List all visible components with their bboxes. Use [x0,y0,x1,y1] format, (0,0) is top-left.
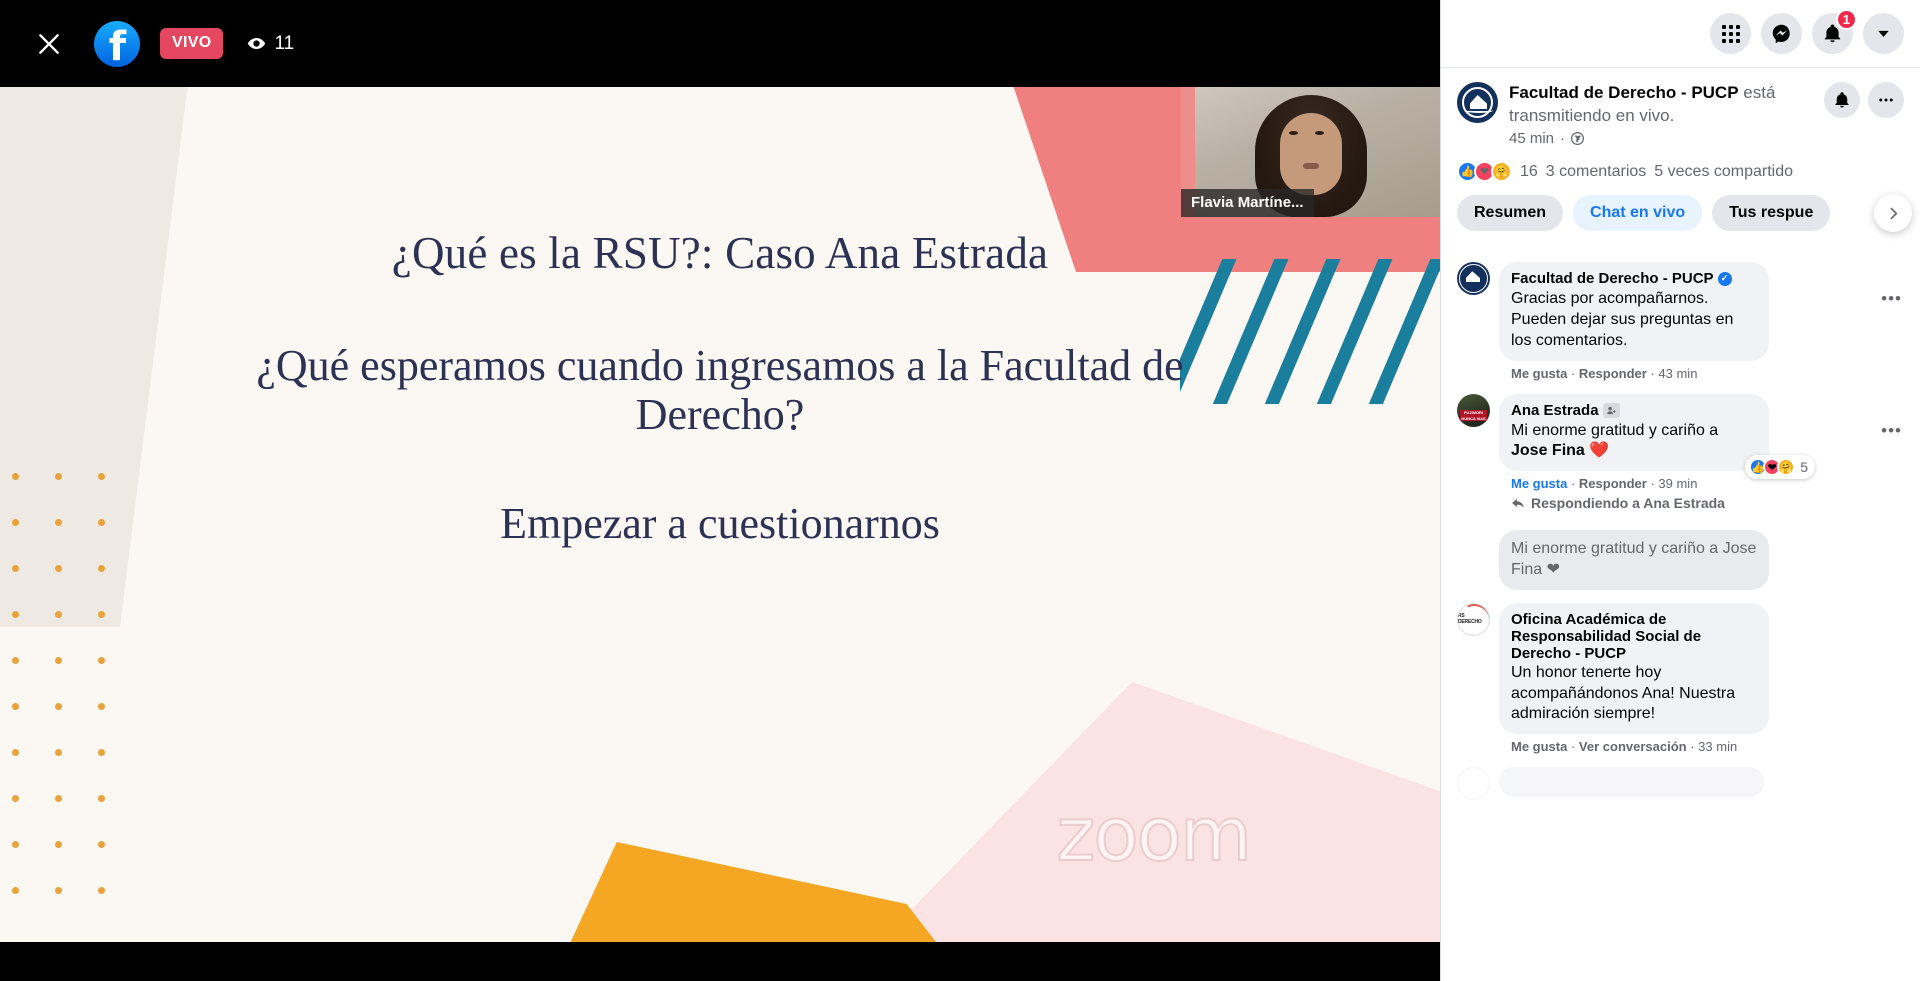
follow-bell-button[interactable] [1824,82,1860,118]
comment-reaction-pill[interactable]: 👍 ❤ 🤗 5 [1745,455,1815,479]
replying-to-label: Respondiendo a Ana Estrada [1511,495,1904,511]
globe-icon [1571,132,1584,145]
pip-mouth [1303,163,1319,169]
replying-to-text: Respondiendo a Ana Estrada [1531,495,1725,511]
account-menu-icon[interactable] [1863,13,1904,54]
action-separator: · [1571,739,1579,754]
avatar[interactable] [1457,262,1490,295]
comment-body: Oficina Académica de Responsabilidad Soc… [1499,603,1904,754]
comment-body: Mi enorme gratitud y cariño a Jose Fina … [1499,530,1904,590]
reply-action[interactable]: Responder [1579,366,1647,381]
action-separator: · [1571,476,1579,491]
comment-bubble: Oficina Académica de Responsabilidad Soc… [1499,603,1769,734]
comment-text-mention[interactable]: Jose Fina [1511,442,1585,459]
live-badge[interactable]: VIVO [160,28,223,59]
post-more-options-button[interactable] [1868,82,1904,118]
ellipsis-icon [1877,91,1895,109]
close-icon[interactable] [26,21,72,67]
comment-author[interactable]: Oficina Académica de Responsabilidad Soc… [1511,611,1757,662]
comment-bubble: Facultad de Derecho - PUCP ✓ Gracias por… [1499,262,1769,360]
post-header-actions [1824,82,1904,147]
reply-action[interactable]: Responder [1579,476,1647,491]
video-top-bar: f VIVO 11 [0,0,1440,87]
action-separator: · [1571,366,1579,381]
avatar-overlay-text: FUJIMORINUNCA MAS [1460,410,1487,421]
comment-more-options[interactable]: ••• [1881,422,1902,439]
comment-author-name: Facultad de Derecho - PUCP [1511,270,1714,287]
avatar-ring [1457,603,1490,636]
tabs-next-button[interactable] [1874,194,1912,232]
avatar-placeholder [1457,767,1490,800]
action-separator: · [1690,739,1698,754]
slide-question: ¿Qué esperamos cuando ingresamos a la Fa… [220,341,1220,440]
facebook-live-page: f VIVO 11 zoom ¿Qué es la RSU?: Caso Ana… [0,0,1920,981]
comment-bubble: Ana Estrada Mi enorme gratitud y cariño … [1499,394,1769,472]
page-avatar[interactable] [1457,82,1498,123]
like-action[interactable]: Me gusta [1511,739,1567,754]
comment-time: 39 min [1658,476,1697,491]
care-reaction-icon: 🤗 [1491,161,1512,182]
comment-text: Mi enorme gratitud y cariño a Jose Fina … [1511,539,1757,581]
like-action[interactable]: Me gusta [1511,476,1567,491]
post-time[interactable]: 45 min [1509,130,1554,147]
comment-time: 43 min [1658,366,1697,381]
comments-fade-overlay [1441,901,1920,981]
messenger-icon[interactable] [1761,13,1802,54]
bell-icon [1833,91,1851,109]
comment-bubble-placeholder [1499,767,1764,797]
sidebar-top-bar: 1 [1441,0,1920,68]
comment-reaction-count: 5 [1800,459,1808,475]
notification-badge: 1 [1836,9,1857,30]
facebook-logo-icon[interactable]: f [94,21,140,67]
post-header-text: Facultad de Derecho - PUCP está transmit… [1509,82,1813,147]
like-action[interactable]: Me gusta [1511,366,1567,381]
comment-count[interactable]: 3 comentarios [1546,163,1647,181]
reaction-icons[interactable]: 👍 ❤ 🤗 [1457,161,1512,182]
verified-badge-icon: ✓ [1718,272,1732,286]
viewer-count: 11 [247,33,294,55]
viewer-count-value: 11 [274,33,294,55]
tab-tus-respuestas[interactable]: Tus respue [1712,195,1830,231]
comment-body: Ana Estrada Mi enorme gratitud y cariño … [1499,394,1904,518]
notifications-icon[interactable]: 1 [1812,13,1853,54]
comment-time: 33 min [1698,739,1737,754]
comments-list[interactable]: Facultad de Derecho - PUCP ✓ Gracias por… [1441,244,1920,981]
presenter-name-label: Flavia Martíne... [1181,189,1314,217]
presenter-webcam-thumbnail[interactable]: Flavia Martíne... [1181,87,1440,217]
comment-actions: Me gusta · Responder · 39 min [1511,476,1904,491]
tabs-row: Resumen Chat en vivo Tus respue [1441,182,1920,244]
slide-title: ¿Qué es la RSU?: Caso Ana Estrada [392,227,1048,279]
tab-chat-en-vivo[interactable]: Chat en vivo [1573,195,1702,231]
comment-author-name: Oficina Académica de Responsabilidad Soc… [1511,611,1757,662]
pip-eye-right [1315,131,1324,135]
grid-menu-glyph [1722,25,1740,43]
comment-item: FUJIMORINUNCA MAS Ana Estrada Mi eno [1457,394,1904,518]
comment-actions: Me gusta · Responder · 43 min [1511,366,1904,381]
grid-menu-icon[interactable] [1710,13,1751,54]
comment-item: RS DERECHO Oficina Académica de Responsa… [1457,603,1904,754]
page-name[interactable]: Facultad de Derecho - PUCP [1509,83,1739,102]
comment-more-options[interactable]: ••• [1881,290,1902,307]
share-count[interactable]: 5 veces compartido [1654,163,1793,181]
comment-author-name: Ana Estrada [1511,402,1599,419]
pip-face [1280,113,1342,195]
reaction-count[interactable]: 16 [1520,163,1538,181]
comment-item-partial [1457,767,1904,800]
comment-author[interactable]: Facultad de Derecho - PUCP ✓ [1511,270,1732,287]
avatar[interactable]: FUJIMORINUNCA MAS [1457,394,1490,427]
comment-body: Facultad de Derecho - PUCP ✓ Gracias por… [1499,262,1904,380]
facebook-logo-letter: f [109,28,125,67]
comment-actions: Me gusta · Ver conversación · 33 min [1511,739,1904,754]
slide-cta: Empezar a cuestionarnos [500,498,940,549]
comment-item: Facultad de Derecho - PUCP ✓ Gracias por… [1457,262,1904,380]
video-player-pane: f VIVO 11 zoom ¿Qué es la RSU?: Caso Ana… [0,0,1440,981]
meta-separator: · [1560,130,1565,147]
care-reaction-icon: 🤗 [1777,458,1795,476]
comment-text: Gracias por acompañarnos. Pueden dejar s… [1511,289,1757,351]
messenger-glyph [1771,23,1792,44]
comment-text: Un honor tenerte hoy acompañándonos Ana!… [1511,663,1757,725]
post-title: Facultad de Derecho - PUCP está transmit… [1509,82,1813,127]
right-sidebar: 1 Facultad de Derecho - PUCP está transm… [1440,0,1920,981]
post-header: Facultad de Derecho - PUCP está transmit… [1441,68,1920,147]
comment-text-emoji: ❤️ [1589,442,1609,459]
avatar-wave [1465,108,1493,113]
post-stats-row: 👍 ❤ 🤗 16 3 comentarios 5 veces compartid… [1441,147,1920,182]
post-meta: 45 min · [1509,130,1813,147]
comment-text-plain: Mi enorme gratitud y cariño a [1511,422,1718,439]
comment-reply-item: Mi enorme gratitud y cariño a Jose Fina … [1499,530,1904,590]
tab-resumen[interactable]: Resumen [1457,195,1563,231]
reply-arrow-icon [1511,496,1525,510]
person-add-glyph [1606,405,1617,416]
eye-icon [247,34,266,53]
comment-bubble: Mi enorme gratitud y cariño a Jose Fina … [1499,530,1769,590]
pip-eye-left [1289,131,1298,135]
comment-author[interactable]: Ana Estrada [1511,402,1620,419]
view-conversation-action[interactable]: Ver conversación [1579,739,1687,754]
comment-text: Mi enorme gratitud y cariño a Jose Fina … [1511,421,1757,463]
avatar[interactable]: RS DERECHO [1457,603,1490,636]
chevron-right-icon [1885,205,1902,222]
chevron-down-glyph [1873,23,1894,44]
tagged-person-icon [1603,403,1620,418]
